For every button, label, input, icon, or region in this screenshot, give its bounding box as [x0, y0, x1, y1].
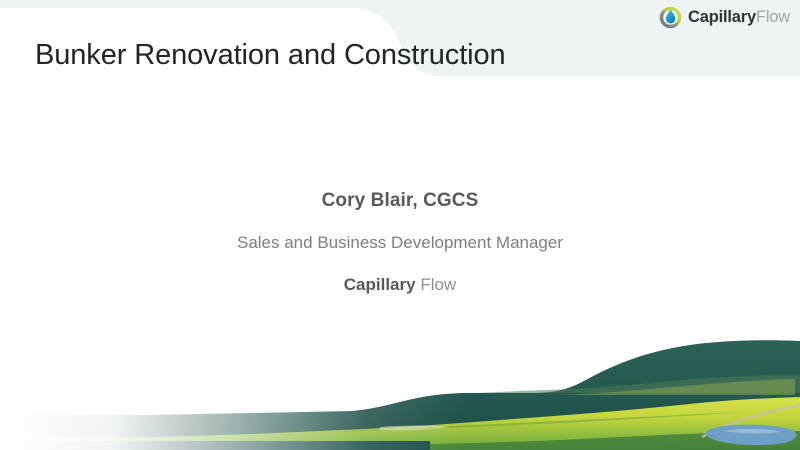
presenter-role: Sales and Business Development Manager	[0, 233, 800, 253]
presenter-name: Cory Blair, CGCS	[0, 190, 800, 212]
water-droplet-in-ring-icon	[659, 6, 682, 29]
brand-logo-lockup: CapillaryFlow	[659, 6, 790, 29]
presenter-block: Cory Blair, CGCS Sales and Business Deve…	[0, 190, 800, 295]
presenter-company-suffix: Flow	[420, 275, 456, 294]
slide-title: Bunker Renovation and Construction	[35, 39, 506, 72]
brand-wordmark-secondary: Flow	[756, 8, 790, 26]
presentation-slide: CapillaryFlow Bunker Renovation and Cons…	[0, 0, 800, 450]
brand-wordmark-primary: Capillary	[688, 8, 756, 26]
brand-wordmark: CapillaryFlow	[688, 9, 790, 26]
landscape-photo	[0, 335, 800, 450]
landscape-left-fade	[0, 335, 800, 450]
presenter-company: Capillary Flow	[0, 275, 800, 295]
presenter-company-primary: Capillary	[344, 275, 416, 294]
